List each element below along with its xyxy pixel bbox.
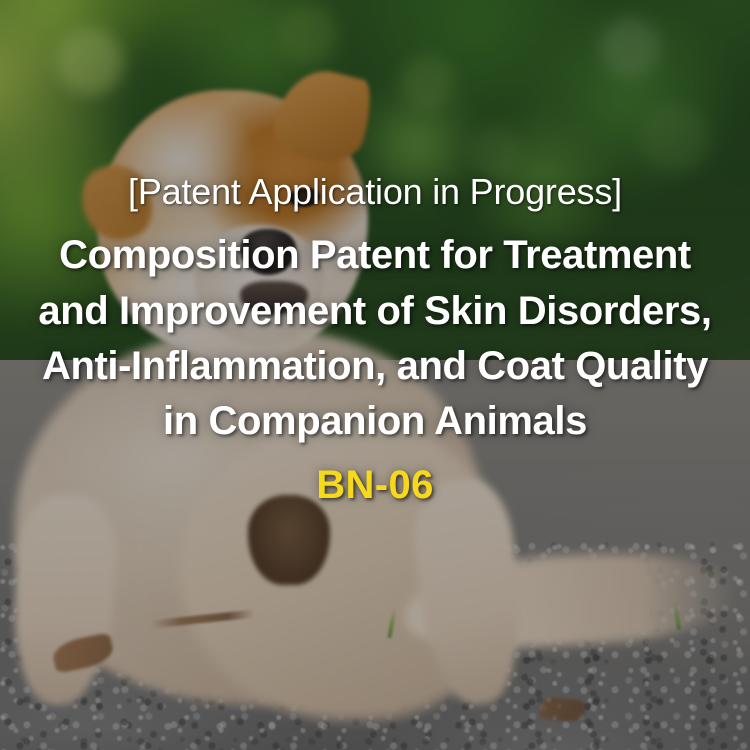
- patent-code-badge: BN-06: [316, 463, 434, 508]
- page-title-line-4: in Companion Animals: [38, 394, 711, 449]
- text-overlay: [Patent Application in Progress] Composi…: [0, 0, 750, 750]
- page-title-line-2: and Improvement of Skin Disorders,: [38, 284, 711, 339]
- page-title-line-3: Anti-Inflammation, and Coat Quality: [38, 339, 711, 394]
- page-title-line-1: Composition Patent for Treatment: [38, 228, 711, 283]
- page-title: Composition Patent for Treatment and Imp…: [30, 228, 719, 449]
- patent-announcement-banner: [Patent Application in Progress] Composi…: [0, 0, 750, 750]
- patent-status-label: [Patent Application in Progress]: [128, 172, 622, 212]
